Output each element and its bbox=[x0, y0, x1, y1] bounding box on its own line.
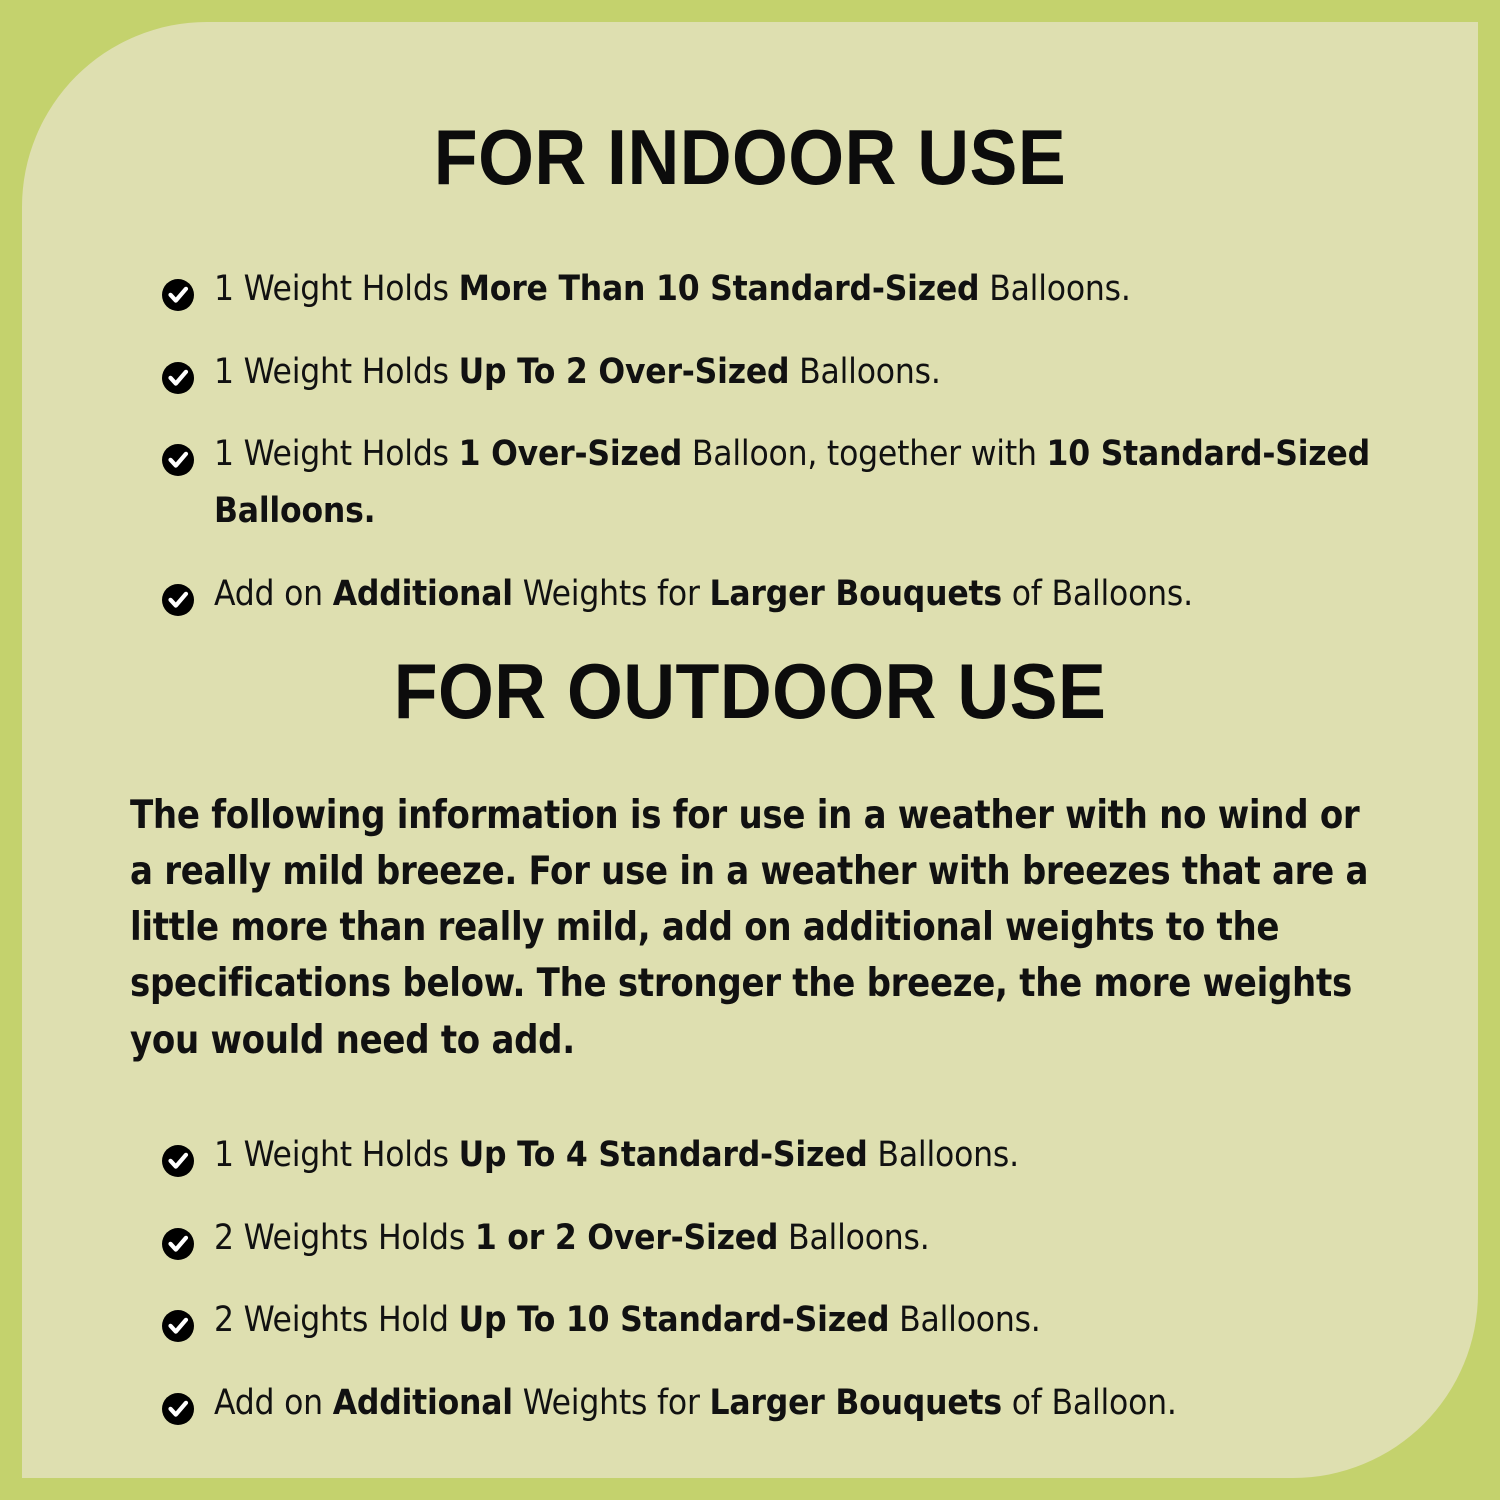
outdoor-intro-paragraph: The following information is for use in … bbox=[130, 788, 1383, 1069]
check-circle-icon bbox=[162, 437, 194, 469]
check-circle-icon bbox=[162, 1221, 194, 1253]
list-item-label: 2 Weights Holds 1 or 2 Over-Sized Balloo… bbox=[214, 1218, 930, 1258]
list-item-label: 1 Weight Holds Up To 2 Over-Sized Balloo… bbox=[214, 352, 941, 392]
list-item: Add on Additional Weights for Larger Bou… bbox=[162, 566, 1462, 623]
check-circle-icon bbox=[162, 1303, 194, 1335]
list-item: 2 Weights Hold Up To 10 Standard-Sized B… bbox=[162, 1292, 1462, 1349]
check-circle-icon bbox=[162, 1386, 194, 1418]
list-item: 1 Weight Holds More Than 10 Standard-Siz… bbox=[162, 261, 1462, 318]
list-item-label: 1 Weight Holds Up To 4 Standard-Sized Ba… bbox=[214, 1135, 1019, 1175]
list-item: 2 Weights Holds 1 or 2 Over-Sized Balloo… bbox=[162, 1210, 1462, 1267]
list-item: Add on Additional Weights for Larger Bou… bbox=[162, 1375, 1462, 1432]
poster-root: FOR INDOOR USE 1 Weight Holds More Than … bbox=[0, 0, 1500, 1500]
page-title-indoor: FOR INDOOR USE bbox=[80, 118, 1420, 196]
indoor-bullet-list: 1 Weight Holds More Than 10 Standard-Siz… bbox=[162, 261, 1462, 648]
list-item-label: 1 Weight Holds More Than 10 Standard-Siz… bbox=[214, 269, 1131, 309]
list-item-label: Add on Additional Weights for Larger Bou… bbox=[214, 574, 1193, 614]
list-item: 1 Weight Holds Up To 4 Standard-Sized Ba… bbox=[162, 1127, 1462, 1184]
check-circle-icon bbox=[162, 1138, 194, 1170]
outdoor-bullet-list: 1 Weight Holds Up To 4 Standard-Sized Ba… bbox=[162, 1127, 1462, 1458]
check-circle-icon bbox=[162, 577, 194, 609]
check-circle-icon bbox=[162, 272, 194, 304]
list-item-label: Add on Additional Weights for Larger Bou… bbox=[214, 1383, 1177, 1423]
list-item: 1 Weight Holds 1 Over-Sized Balloon, tog… bbox=[162, 426, 1462, 539]
list-item-label: 2 Weights Hold Up To 10 Standard-Sized B… bbox=[214, 1300, 1041, 1340]
page-title-outdoor: FOR OUTDOOR USE bbox=[80, 652, 1420, 730]
info-panel: FOR INDOOR USE 1 Weight Holds More Than … bbox=[22, 22, 1478, 1478]
check-circle-icon bbox=[162, 355, 194, 387]
list-item-label: 1 Weight Holds 1 Over-Sized Balloon, tog… bbox=[214, 434, 1370, 531]
list-item: 1 Weight Holds Up To 2 Over-Sized Balloo… bbox=[162, 344, 1462, 401]
